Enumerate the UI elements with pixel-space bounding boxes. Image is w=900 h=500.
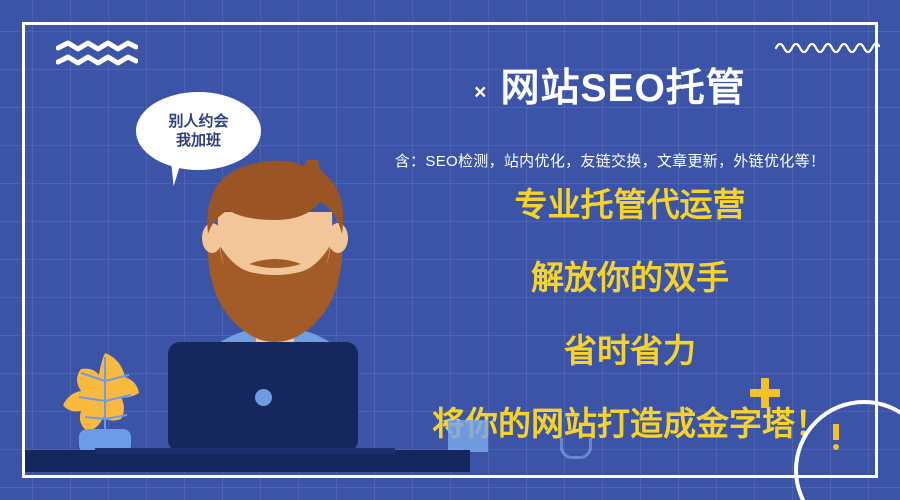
header-block: × 网站SEO托管 含：SEO检测，站内优化，友链交换，文章更新，外链优化等！ (330, 42, 890, 171)
paper-sheet (448, 420, 488, 452)
coffee-cup-icon (560, 438, 592, 459)
speech-bubble-line-1: 别人约会 (168, 112, 228, 131)
speech-bubble: 别人约会 我加班 (136, 92, 261, 170)
slogan-line-1: 专业托管代运营 (380, 188, 880, 221)
page-subtitle: 含：SEO检测，站内优化，友链交换，文章更新，外链优化等！ (330, 150, 890, 171)
speech-bubble-line-2: 我加班 (176, 131, 221, 150)
laptop-icon (168, 342, 358, 452)
slogan-line-3: 省时省力 (380, 334, 880, 367)
laptop-logo-dot (255, 389, 272, 406)
wave-lines-icon (56, 40, 138, 70)
slogan-list: 专业托管代运营 解放你的双手 省时省力 将你的网站打造成金字塔！ (380, 188, 880, 440)
seo-hosting-banner: × 网站SEO托管 含：SEO检测，站内优化，友链交换，文章更新，外链优化等！ … (0, 0, 900, 500)
desk-shadow (95, 448, 395, 454)
x-mark-icon: × (474, 82, 486, 103)
plus-icon (750, 378, 780, 408)
slogan-line-2: 解放你的双手 (380, 261, 880, 294)
potted-plant-icon (55, 345, 155, 455)
page-title: 网站SEO托管 (500, 68, 745, 111)
title-row: × 网站SEO托管 (330, 42, 890, 137)
